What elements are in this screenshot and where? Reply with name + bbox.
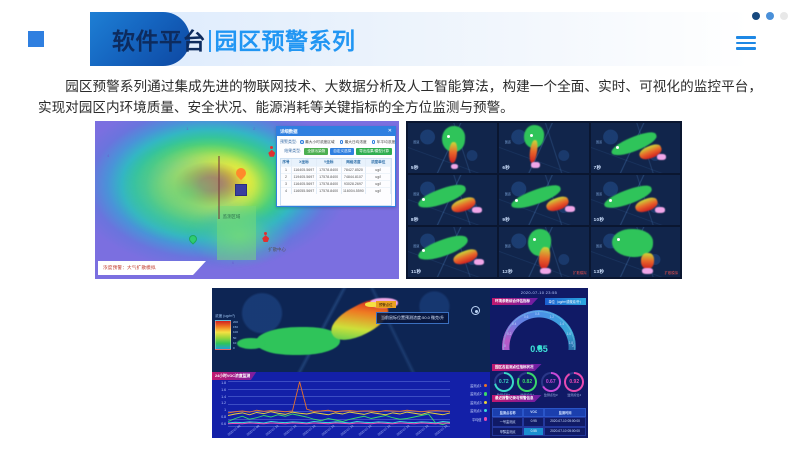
legend-tick-5: 0 — [233, 346, 238, 350]
legend-tick-0: 200 — [233, 320, 238, 324]
alarm-row[interactable]: 一号监测点0.952020-07-10 05:00:00 — [492, 417, 586, 426]
legend-item[interactable]: 监测点3 — [470, 400, 487, 405]
map-legend-title: 浓度 (ug/m³) — [215, 314, 235, 319]
y-tick-5: 0.8 — [221, 415, 226, 419]
table-row[interactable]: 1 116405.5697 17578.8400 78427.8520 ug/l — [281, 166, 391, 173]
table-section-label: 最近报警记录与预警信息 — [495, 396, 534, 401]
person-marker-icon-2[interactable] — [262, 232, 269, 243]
tile-watermark: 扩散模拟 — [573, 270, 587, 275]
legend-item[interactable]: 监测点4 — [470, 408, 487, 413]
hamburger-bar-1 — [736, 36, 756, 39]
tile-time-label: 9秒 — [502, 217, 510, 223]
cell-conc: 93028.2697 — [342, 180, 367, 187]
rings-section-title: 园区各监测点位指标状况 — [492, 364, 542, 371]
tile-road-label: 国道 — [413, 192, 419, 196]
alarm-row[interactable]: 甲醇监测点0.552020-07-10 05:00:00 — [492, 427, 586, 436]
radio-icon-2 — [340, 140, 344, 144]
ring-label: 监测点位4 — [564, 393, 584, 397]
cell-y: 17578.8400 — [317, 187, 342, 194]
hamburger-bar-3 — [736, 47, 756, 50]
gauge-tick-7: 1.6 — [567, 332, 571, 336]
legend-item[interactable]: 平均值 — [470, 417, 487, 422]
settings-gear-icon[interactable] — [471, 306, 480, 315]
y-tick-1: 1.6 — [221, 388, 226, 392]
tile-plume-peak — [474, 259, 484, 265]
tile-plume-peak — [655, 207, 665, 213]
gauge-tick-2: 0.4 — [512, 322, 516, 326]
gauge-tick-6: 1.4 — [560, 322, 564, 326]
tile-time-label: 13秒 — [594, 269, 605, 275]
result-type-row: 结果类型: 全部污染物 自定义选择 导出结果/模型计算 — [280, 148, 392, 155]
radio-annual-avg[interactable]: 年平均浓度 — [372, 140, 395, 145]
gauge-unit-label: 单位（ug/m³或微克/升） — [548, 299, 583, 304]
alarm-col-1: VOC — [523, 408, 544, 417]
detail-panel: 详细数据 ✕ 预警类型: 最大小时浓度区域 最大日均浓度 年平均浓度 结果类型:… — [276, 126, 396, 207]
tile-plume-peak — [657, 154, 666, 160]
legend-tick-3: 50 — [233, 336, 238, 340]
table-header-row: 序号 X坐标 Y坐标 网格浓度 浓度单位 — [281, 159, 391, 166]
gauge-unit-badge: 单位（ug/m³或微克/升） — [545, 298, 586, 305]
legend-tick-1: 150 — [233, 325, 238, 329]
heatmap-caption-tooltip: 浓度预警：大气扩散模拟 — [98, 261, 206, 275]
tile-time-label: 10秒 — [594, 217, 605, 223]
close-icon[interactable]: ✕ — [388, 129, 392, 134]
map-tooltip: 当前鼠标位置预测浓度:50.0 微克/升 — [376, 312, 449, 324]
cell-unit: ug/l — [366, 180, 391, 187]
plume-tile[interactable]: 国道11秒 — [408, 227, 497, 277]
source-marker-icon[interactable] — [235, 184, 247, 196]
table-row[interactable]: 4 116055.5697 17578.8400 116004.5590 ug/… — [281, 187, 391, 194]
result-type-label: 结果类型: — [280, 148, 301, 154]
alarm-table: 监测点名称VOC监测时间一号监测点0.952020-07-10 05:00:00… — [492, 408, 586, 436]
cell-y: 17578.8400 — [317, 173, 342, 180]
ring-circle: 0.67 — [541, 372, 561, 392]
ring-label: 监测点位3 — [541, 393, 561, 397]
chart-title: 24小时VOC浓度监测 — [215, 374, 250, 379]
chart-title-bar: 24小时VOC浓度监测 — [212, 372, 256, 380]
figure-dashboard: 浓度 (ug/m³) 200 150 100 50 10 0 预警点位 当前鼠标… — [212, 288, 588, 438]
chart-y-axis: 1.81.61.41.210.80.6 — [212, 381, 228, 426]
person-marker-icon-1[interactable] — [268, 146, 275, 157]
tile-watermark: 扩散模拟 — [664, 270, 678, 275]
dashboard-sidebar: 2020-07-10 23:55 环境参数综合评估指标 单位（ug/m³或微克/… — [490, 288, 588, 438]
intro-paragraph: 园区预警系列通过集成先进的物联网技术、大数据分析及人工智能算法，构建一个全面、实… — [38, 76, 762, 118]
tile-plume-hot — [640, 253, 653, 269]
ring-circle: 0.72 — [494, 372, 514, 392]
tile-time-label: 12秒 — [502, 269, 513, 275]
result-type-buttons: 全部污染物 自定义选择 导出结果/模型计算 — [304, 148, 392, 155]
legend-swatch — [484, 401, 488, 405]
tile-map-bg — [499, 123, 588, 173]
map-alert-badge: 预警点位 — [376, 301, 396, 308]
figure-plume-grid: 国道5秒国道6秒国道7秒国道8秒国道9秒国道10秒国道11秒国道12秒扩散模拟国… — [406, 121, 682, 279]
series-0 — [228, 382, 450, 413]
tile-road-label: 国道 — [596, 192, 602, 196]
legend-label: 监测点1 — [470, 383, 481, 388]
gauge-tick-5: 1.2 — [550, 315, 554, 319]
plume-tile[interactable]: 国道9秒 — [499, 175, 588, 225]
monitor-ring[interactable]: 0.82监测点位2 — [517, 372, 537, 397]
legend-label: 监测点4 — [470, 408, 481, 413]
gauge-section-title: 环境参数综合评估指标 — [492, 298, 538, 305]
detail-panel-title: 详细数据 — [280, 129, 298, 135]
cell-conc: 78427.8520 — [342, 166, 367, 173]
cell-x: 116405.5697 — [292, 166, 317, 173]
tile-station-dot — [530, 134, 533, 137]
alarm-cell: 2020-07-10 05:00:00 — [544, 427, 586, 436]
gauge-tick-4: 0.8 — [535, 312, 539, 316]
plume-tile[interactable]: 国道5秒 — [408, 123, 497, 173]
tile-road-label: 国道 — [413, 140, 419, 144]
gauge-value: 0.55 — [490, 344, 588, 354]
tile-station-dot — [616, 146, 619, 149]
legend-swatch — [484, 392, 488, 396]
alarm-header-row: 监测点名称VOC监测时间 — [492, 408, 586, 417]
ring-circle: 0.92 — [564, 372, 584, 392]
col-conc: 网格浓度 — [342, 159, 367, 166]
radio-label-2: 最大日均浓度 — [345, 140, 367, 145]
cell-x: 119405.5697 — [292, 173, 317, 180]
monitor-ring[interactable]: 0.72监测点位1 — [494, 372, 514, 397]
plume-tile[interactable]: 国道6秒 — [499, 123, 588, 173]
hamburger-menu-icon[interactable] — [736, 36, 756, 50]
y-tick-2: 1.4 — [221, 395, 226, 399]
tile-time-label: 5秒 — [411, 165, 419, 171]
title-secondary: 园区预警系列 — [214, 22, 355, 56]
alarm-cell: 0.55 — [523, 427, 544, 436]
alarm-cell: 2020-07-10 05:00:00 — [544, 417, 586, 426]
chart-legend: 监测点1监测点2监测点3监测点4平均值 — [470, 383, 487, 422]
heatmap-axis-tick-2: 2 — [253, 126, 255, 131]
plume-tile[interactable]: 国道13秒扩散模拟 — [591, 227, 680, 277]
page-header: 软件平台|园区预警系列 — [0, 12, 800, 66]
plume-green — [256, 327, 339, 356]
cell-y: 17578.8400 — [317, 166, 342, 173]
legend-item[interactable]: 监测点2 — [470, 391, 487, 396]
y-tick-0: 1.8 — [221, 381, 226, 385]
tile-plume-peak — [472, 207, 482, 213]
monitoring-rings: 0.72监测点位10.82监测点位20.67监测点位30.92监测点位4 — [492, 372, 586, 397]
tile-plume-peak — [565, 206, 575, 212]
hamburger-bar-2 — [736, 42, 756, 45]
figure-heatmap: 监测区域 扩散中心 1 2 3 4 5 6 浓度预警：大气扩散模拟 详细数据 ✕… — [95, 121, 399, 279]
header-square-accent — [28, 31, 44, 47]
cell-unit: ug/l — [366, 187, 391, 194]
title-primary: 软件平台 — [112, 22, 206, 56]
heatmap-axis-tick-1: 1 — [186, 126, 188, 131]
cell-y: 17578.8400 — [317, 180, 342, 187]
plume-tile[interactable]: 国道10秒 — [591, 175, 680, 225]
warning-type-row: 预警类型: 最大小时浓度区域 最大日均浓度 年平均浓度 — [280, 139, 392, 145]
cell-conc: 116004.5590 — [342, 187, 367, 194]
table-row[interactable]: 3 116405.5697 17578.8400 93028.2697 ug/l — [281, 180, 391, 187]
detail-panel-header: 详细数据 ✕ — [277, 127, 395, 136]
rings-section-label: 园区各监测点位指标状况 — [495, 365, 534, 370]
tile-time-label: 7秒 — [594, 165, 602, 171]
page-title: 软件平台|园区预警系列 — [112, 12, 355, 66]
gridline-6 — [228, 426, 450, 427]
gauge-tick-3: 0.6 — [524, 315, 528, 319]
heatmap-inner-label: 监测区域 — [223, 214, 241, 220]
tile-plume-peak — [451, 164, 458, 169]
legend-swatch — [484, 409, 488, 413]
cell-x: 116055.5697 — [292, 187, 317, 194]
legend-label: 平均值 — [472, 417, 482, 422]
detail-panel-controls: 预警类型: 最大小时浓度区域 最大日均浓度 年平均浓度 结果类型: 全部污染物 … — [277, 136, 395, 157]
monitor-ring[interactable]: 0.67监测点位3 — [541, 372, 561, 397]
cell-unit: ug/l — [366, 173, 391, 180]
col-x: X坐标 — [292, 159, 317, 166]
cell-index: 1 — [281, 166, 292, 173]
heatmap-axis-tick-4: 4 — [107, 153, 109, 158]
map-legend-bar — [215, 320, 231, 350]
tile-road-label: 国道 — [596, 140, 602, 144]
dot-icon-1 — [752, 12, 760, 20]
col-y: Y坐标 — [317, 159, 342, 166]
alarm-cell: 一号监测点 — [492, 417, 523, 426]
table-row[interactable]: 2 119405.5697 17578.8400 74844.8107 ug/l — [281, 173, 391, 180]
warning-type-label: 预警类型: — [280, 139, 297, 145]
radio-label-3: 年平均浓度 — [377, 140, 395, 145]
table-section-title: 最近报警记录与预警信息 — [492, 395, 542, 402]
radio-icon-3 — [372, 140, 376, 144]
legend-swatch — [484, 384, 488, 388]
map-legend-scale: 200 150 100 50 10 0 — [233, 320, 238, 350]
heatmap-axis-line — [218, 156, 220, 219]
heatmap-caption-text: 浓度预警：大气扩散模拟 — [103, 265, 156, 271]
chart-plot-area — [228, 381, 450, 426]
tile-plume-peak — [642, 268, 653, 274]
cell-conc: 74844.8107 — [342, 173, 367, 180]
warning-type-radios: 最大小时浓度区域 最大日均浓度 年平均浓度 — [300, 140, 395, 145]
cell-index: 3 — [281, 180, 292, 187]
legend-tick-4: 10 — [233, 341, 238, 345]
plume-tile[interactable]: 国道12秒扩散模拟 — [499, 227, 588, 277]
tile-time-label: 6秒 — [502, 165, 510, 171]
tile-road-label: 国道 — [505, 244, 511, 248]
tile-time-label: 11秒 — [411, 269, 421, 275]
all-pollutants-button[interactable]: 全部污染物 — [304, 148, 328, 155]
cell-unit: ug/l — [366, 166, 391, 173]
ring-value: 0.72 — [499, 379, 509, 385]
voc-line-chart: 24小时VOC浓度监测 1.81.61.41.210.80.6 2020-07-… — [212, 372, 490, 438]
radio-icon-1 — [300, 140, 304, 144]
legend-label: 监测点3 — [470, 400, 481, 405]
y-tick-4: 1 — [224, 408, 226, 412]
cell-index: 2 — [281, 173, 292, 180]
tile-plume-peak — [540, 268, 551, 274]
detail-panel-table: 序号 X坐标 Y坐标 网格浓度 浓度单位 1 116405.5697 17578… — [280, 158, 392, 206]
ring-value: 0.67 — [546, 379, 556, 385]
tile-station-dot — [609, 199, 612, 202]
tile-road-label: 国道 — [505, 140, 511, 144]
dot-icon-2 — [766, 12, 774, 20]
alarm-col-2: 监测时间 — [544, 408, 586, 417]
y-tick-6: 0.6 — [221, 422, 226, 426]
legend-swatch — [484, 417, 488, 421]
heatmap-bottom-label: 扩散中心 — [268, 247, 286, 253]
tile-road-label: 国道 — [596, 244, 602, 248]
tile-road-label: 国道 — [505, 192, 511, 196]
legend-tick-2: 100 — [233, 330, 238, 334]
export-result-button[interactable]: 导出结果/模型计算 — [356, 148, 392, 155]
dot-icon-3 — [780, 12, 788, 20]
title-separator: | — [206, 26, 214, 53]
plume-tile[interactable]: 国道8秒 — [408, 175, 497, 225]
radio-label-1: 最大小时浓度区域 — [305, 140, 335, 145]
col-unit: 浓度单位 — [366, 159, 391, 166]
legend-label: 监测点2 — [470, 391, 481, 396]
alarm-cell: 甲醇监测点 — [492, 427, 523, 436]
tile-plume-peak — [531, 162, 539, 168]
ring-value: 0.92 — [569, 379, 579, 385]
ring-circle: 0.82 — [517, 372, 537, 392]
legend-item[interactable]: 监测点1 — [470, 383, 487, 388]
chart-series-svg — [228, 381, 450, 426]
cell-x: 116405.5697 — [292, 180, 317, 187]
window-dots — [752, 12, 788, 20]
chart-x-axis: 2020-07-092020-07-092020-07-102020-07-10… — [228, 433, 450, 437]
radio-max-hourly[interactable]: 最大小时浓度区域 — [300, 140, 335, 145]
radio-max-daily[interactable]: 最大日均浓度 — [340, 140, 367, 145]
y-tick-3: 1.2 — [221, 401, 226, 405]
custom-select-button[interactable]: 自定义选择 — [330, 148, 354, 155]
alarm-cell: 0.95 — [523, 417, 544, 426]
plume-tile[interactable]: 国道7秒 — [591, 123, 680, 173]
dashboard-timestamp: 2020-07-10 23:55 — [490, 290, 588, 295]
gauge-section-label: 环境参数综合评估指标 — [495, 299, 530, 304]
dashboard-map[interactable]: 浓度 (ug/m³) 200 150 100 50 10 0 预警点位 当前鼠标… — [212, 288, 490, 372]
tile-road-label: 国道 — [413, 244, 419, 248]
ring-value: 0.82 — [522, 379, 532, 385]
alarm-col-0: 监测点名称 — [492, 408, 523, 417]
col-index: 序号 — [281, 159, 292, 166]
heatmap-axis-tick-6: 6 — [232, 260, 234, 265]
tile-time-label: 8秒 — [411, 217, 419, 223]
gauge-tick-1: 0.2 — [507, 332, 511, 336]
series-2 — [228, 412, 450, 416]
monitor-ring[interactable]: 0.92监测点位4 — [564, 372, 584, 397]
cell-index: 4 — [281, 187, 292, 194]
